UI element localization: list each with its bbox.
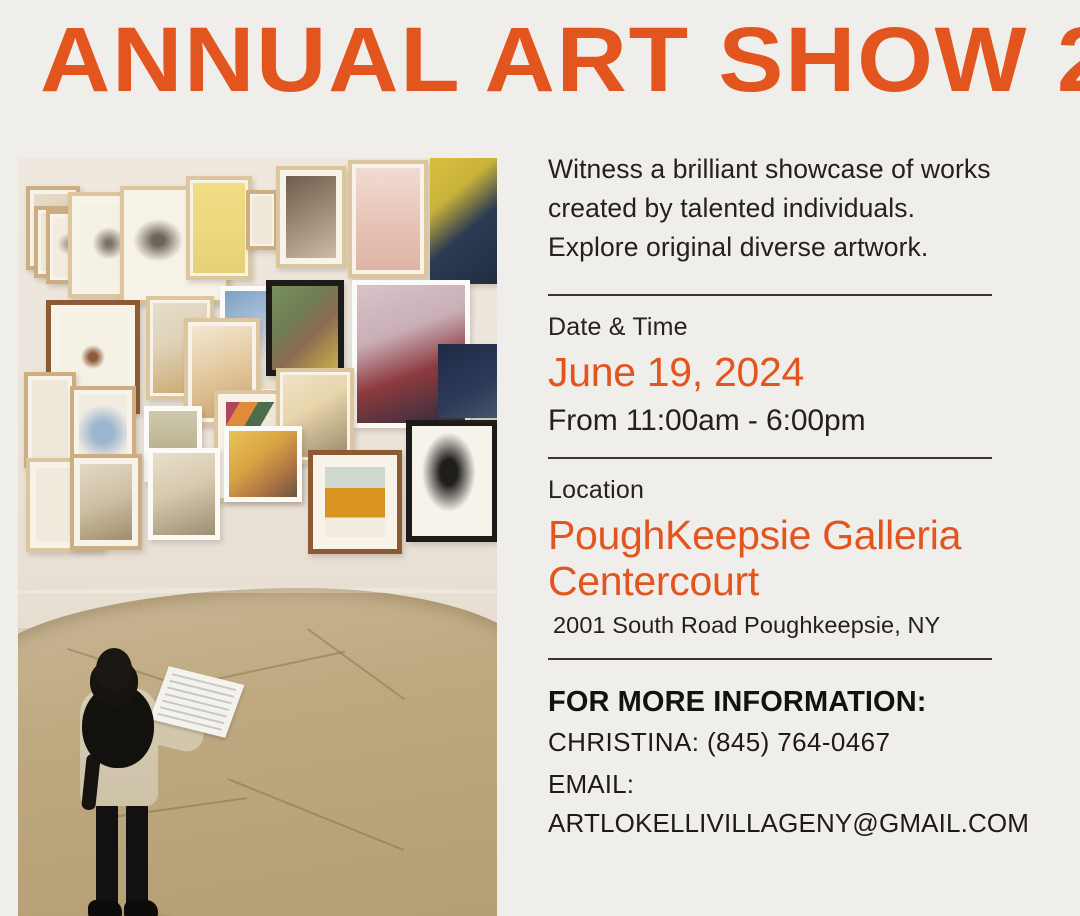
- event-address: 2001 South Road Poughkeepsie, NY: [548, 610, 992, 640]
- artwork-image: [272, 286, 338, 370]
- event-details: Witness a brilliant showcase of works cr…: [548, 150, 992, 843]
- gallery-wall-photo: [18, 158, 497, 916]
- artwork-image: [412, 426, 492, 536]
- location-label: Location: [548, 474, 992, 506]
- artwork-image: [438, 344, 497, 418]
- visitor-boot: [124, 900, 158, 916]
- artwork-image: [325, 467, 386, 538]
- frame-mat: [352, 164, 424, 274]
- artwork-frame: [148, 448, 220, 540]
- artwork-frame: [406, 420, 497, 542]
- artwork-image: [430, 158, 497, 284]
- artwork-frame: [430, 158, 497, 284]
- artwork-image: [153, 453, 215, 535]
- frame-mat: [313, 455, 397, 549]
- contact-email[interactable]: EMAIL: ARTLOKELLIVILLAGENY@GMAIL.COM: [548, 765, 992, 843]
- contact-heading: FOR MORE INFORMATION:: [548, 684, 992, 720]
- event-venue: PoughKeepsie Galleria Centercourt: [548, 512, 992, 604]
- gallery-scene: [18, 158, 497, 916]
- artwork-frame: [24, 372, 76, 468]
- artwork-frame: [308, 450, 402, 554]
- artwork-image: [193, 183, 245, 273]
- artwork-frame: [224, 426, 302, 502]
- event-description: Witness a brilliant showcase of works cr…: [548, 150, 992, 267]
- artwork-frame: [246, 190, 278, 250]
- artwork-frame: [70, 454, 142, 550]
- visitor-head: [96, 648, 132, 690]
- page-title: ANNUAL ART SHOW 2024: [40, 8, 1080, 112]
- artwork-image: [356, 168, 419, 269]
- artwork-frame: [186, 176, 252, 280]
- frame-mat: [190, 180, 248, 276]
- artwork-frame: [348, 160, 428, 278]
- artwork-frame: [438, 344, 497, 418]
- artwork-frame: [266, 280, 344, 376]
- date-time-label: Date & Time: [548, 311, 992, 343]
- artwork-image: [286, 176, 337, 259]
- artwork-image: [80, 464, 133, 541]
- frame-mat: [250, 194, 274, 246]
- frame-mat: [280, 170, 342, 264]
- artwork-image: [229, 431, 297, 497]
- divider: [548, 294, 992, 296]
- artwork-image: [252, 196, 272, 244]
- visitor-leg: [126, 800, 148, 910]
- divider: [548, 457, 992, 459]
- frame-mat: [74, 458, 138, 546]
- event-poster: ANNUAL ART SHOW 2024: [0, 0, 1080, 916]
- event-date: June 19, 2024: [548, 349, 992, 395]
- visitor-leg: [96, 800, 118, 910]
- contact-phone[interactable]: CHRISTINA: (845) 764-0467: [548, 723, 992, 762]
- frame-mat: [28, 376, 72, 464]
- visitor-boot: [88, 900, 122, 916]
- artwork-image: [32, 380, 68, 460]
- gallery-visitor: [18, 588, 318, 916]
- divider: [548, 658, 992, 660]
- event-time: From 11:00am - 6:00pm: [548, 402, 992, 440]
- artwork-frame: [276, 166, 346, 268]
